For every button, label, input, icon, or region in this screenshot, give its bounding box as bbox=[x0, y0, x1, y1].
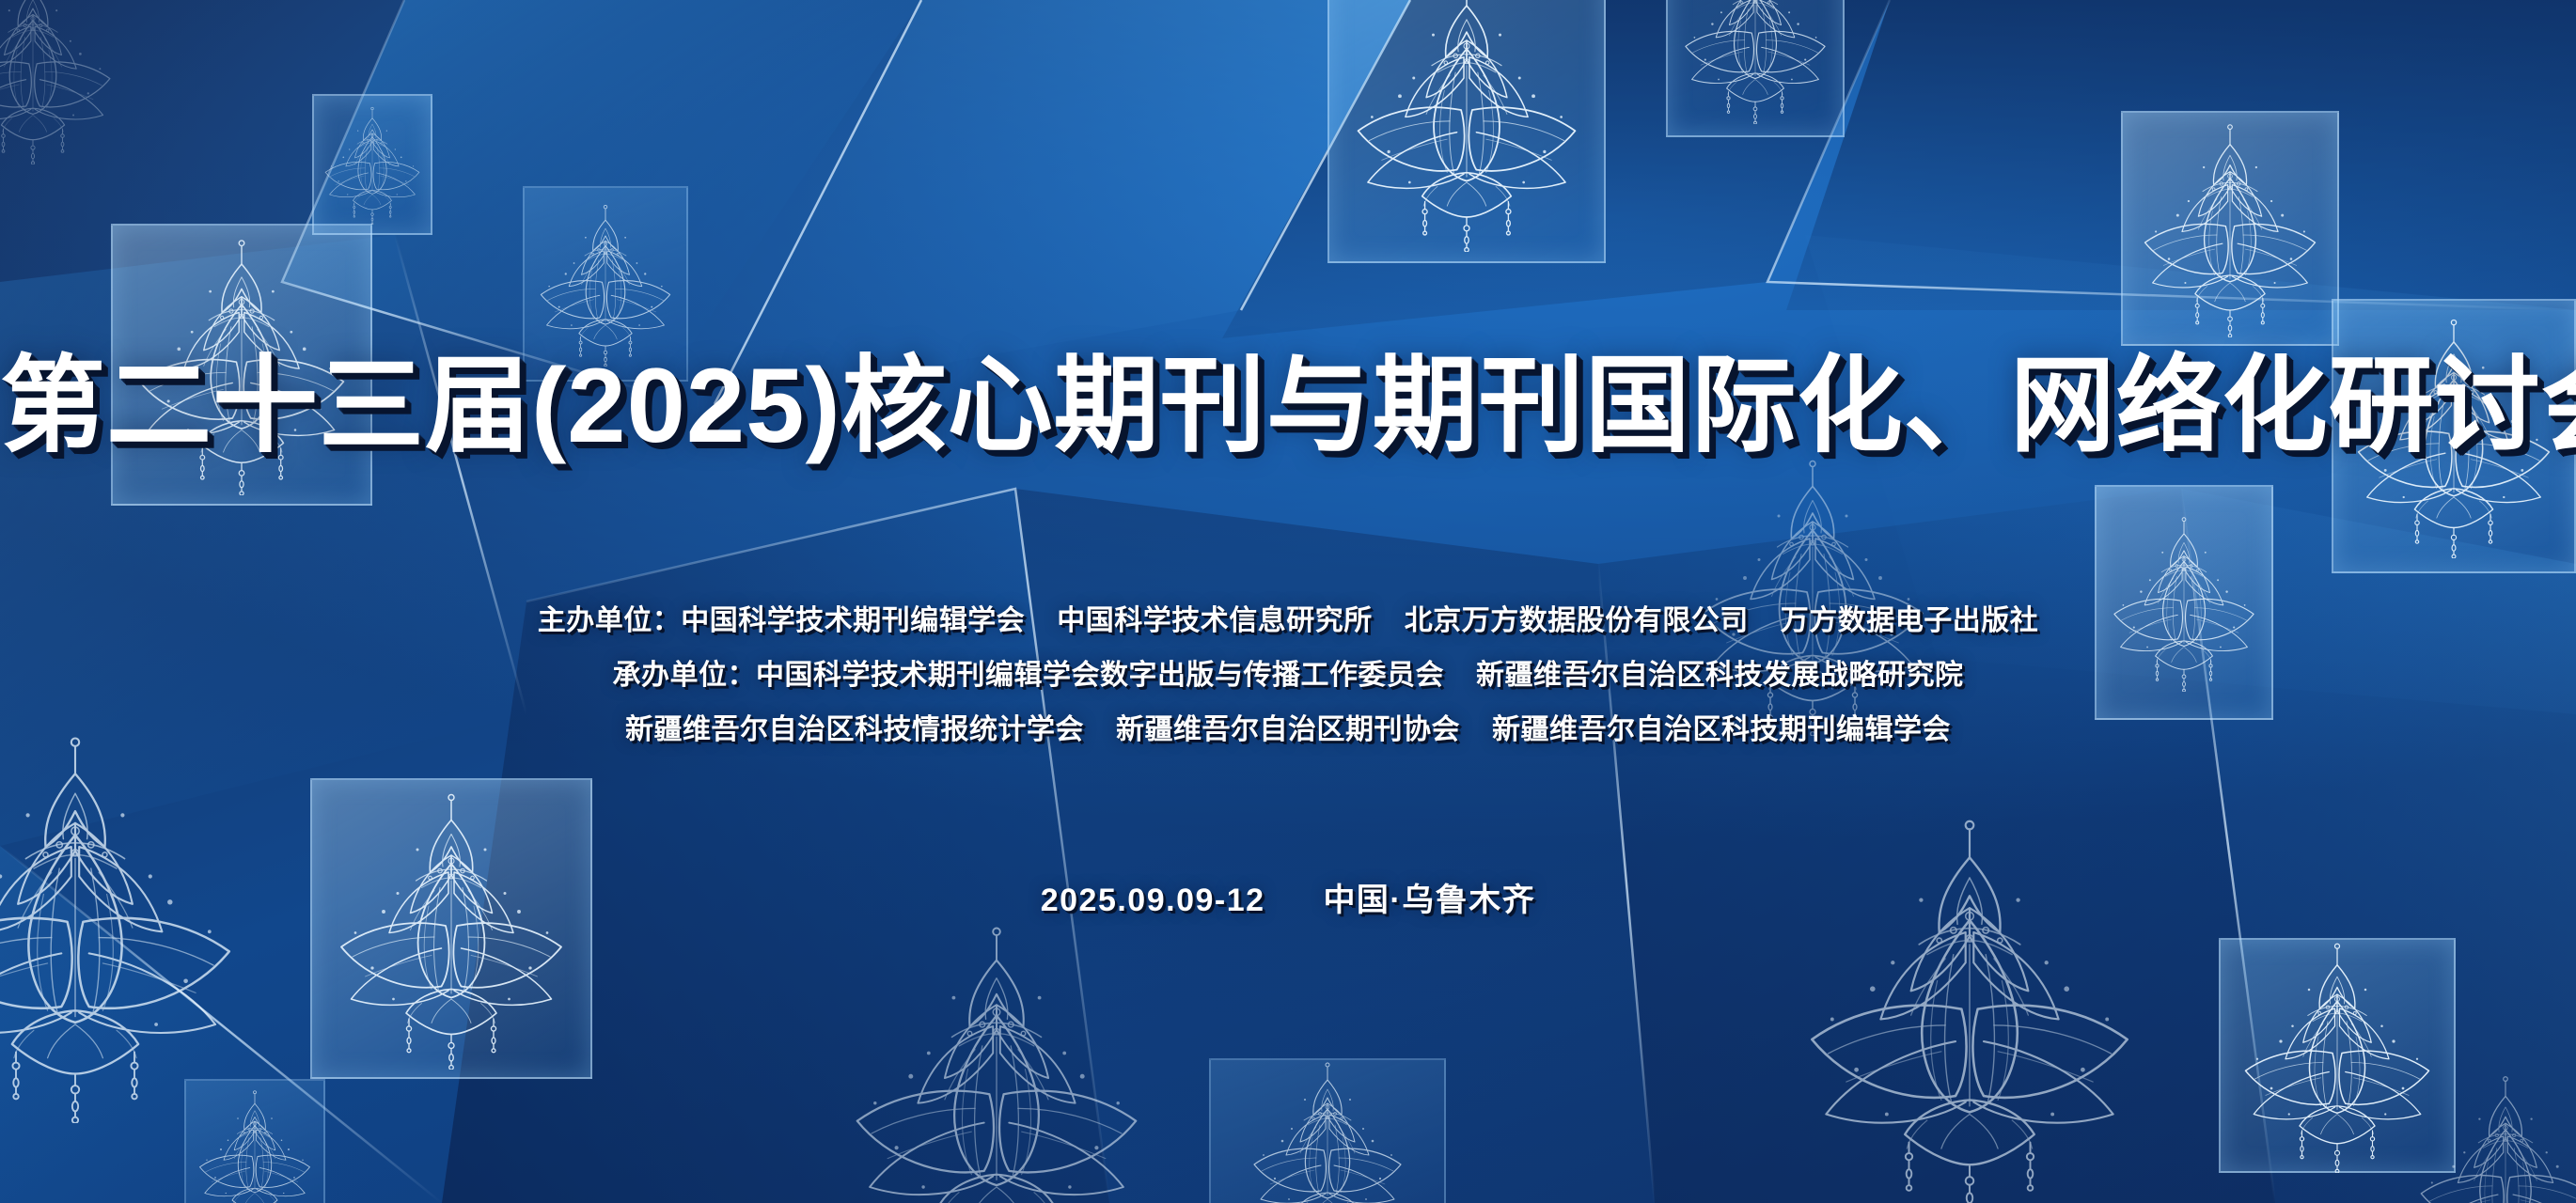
organizer-line: 主办单位：中国科学技术期刊编辑学会中国科学技术信息研究所北京万方数据股份有限公司… bbox=[0, 607, 2576, 635]
banner-content: 第二十三届(2025)核心期刊与期刊国际化、网络化研讨会 主办单位：中国科学技术… bbox=[0, 0, 2576, 1203]
organizer-name: 新疆维吾尔自治区科技期刊编辑学会 bbox=[1492, 714, 1951, 745]
organizer-name: 新疆维吾尔自治区科技情报统计学会 bbox=[625, 714, 1084, 745]
organizer-name: 中国科学技术期刊编辑学会 bbox=[681, 605, 1025, 636]
organizer-name: 万方数据电子出版社 bbox=[1781, 605, 2039, 636]
event-date: 2025.09.09-12 bbox=[1041, 883, 1265, 918]
organizer-name: 中国科学技术信息研究所 bbox=[1057, 605, 1373, 636]
date-location-bar: 2025.09.09-12 中国·乌鲁木齐 bbox=[0, 874, 2576, 920]
organizer-list: 主办单位：中国科学技术期刊编辑学会中国科学技术信息研究所北京万方数据股份有限公司… bbox=[0, 607, 2576, 744]
organizer-line: 承办单位：中国科学技术期刊编辑学会数字出版与传播工作委员会新疆维吾尔自治区科技发… bbox=[0, 662, 2576, 690]
conference-banner: 第二十三届(2025)核心期刊与期刊国际化、网络化研讨会 主办单位：中国科学技术… bbox=[0, 0, 2576, 1203]
organizer-name: 中国科学技术期刊编辑学会数字出版与传播工作委员会 bbox=[756, 660, 1444, 691]
organizer-label: 承办单位： bbox=[613, 660, 757, 691]
organizer-name: 新疆维吾尔自治区期刊协会 bbox=[1116, 714, 1460, 745]
organizer-line: 新疆维吾尔自治区科技情报统计学会新疆维吾尔自治区期刊协会新疆维吾尔自治区科技期刊… bbox=[0, 716, 2576, 744]
organizer-name: 新疆维吾尔自治区科技发展战略研究院 bbox=[1476, 660, 1964, 691]
event-location: 中国·乌鲁木齐 bbox=[1323, 883, 1535, 918]
organizer-label: 主办单位： bbox=[538, 605, 682, 636]
organizer-name: 北京万方数据股份有限公司 bbox=[1405, 605, 1749, 636]
page-title: 第二十三届(2025)核心期刊与期刊国际化、网络化研讨会 bbox=[0, 353, 2576, 459]
